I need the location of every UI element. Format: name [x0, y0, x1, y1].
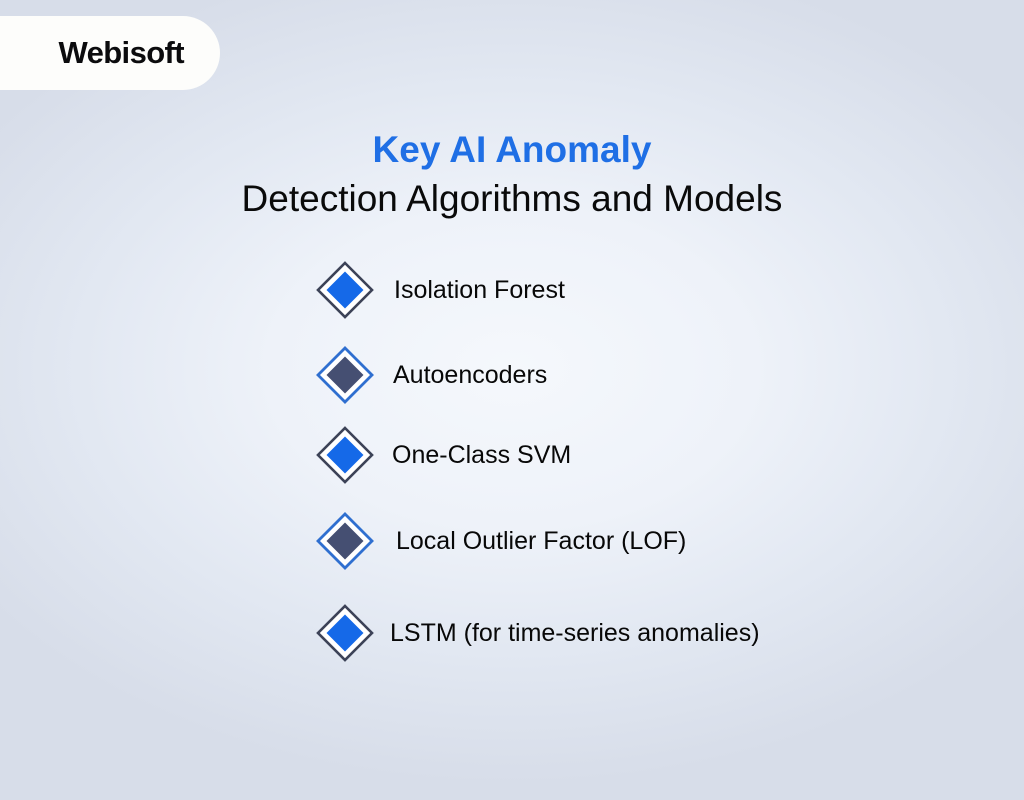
brand-logo-text: Webisoft — [58, 35, 184, 71]
algorithm-list: Isolation Forest Autoencoders One-Class … — [316, 262, 1016, 661]
diamond-blue-icon — [316, 604, 374, 662]
page-title: Key AI Anomaly Detection Algorithms and … — [0, 128, 1024, 222]
list-item: Local Outlier Factor (LOF) — [316, 513, 1016, 569]
diamond-blue-icon — [316, 426, 374, 484]
list-item-label: Autoencoders — [393, 363, 547, 388]
list-item: One-Class SVM — [316, 427, 1016, 483]
list-item: Autoencoders — [316, 347, 1016, 403]
brand-logo-pill: Webisoft — [0, 16, 220, 90]
title-line-primary: Key AI Anomaly — [0, 128, 1024, 172]
slide-canvas: Webisoft Key AI Anomaly Detection Algori… — [0, 0, 1024, 800]
title-line-secondary: Detection Algorithms and Models — [0, 176, 1024, 222]
list-item: LSTM (for time-series anomalies) — [316, 605, 1016, 661]
diamond-blue-icon — [316, 261, 374, 319]
list-item-label: Local Outlier Factor (LOF) — [396, 529, 686, 554]
list-item: Isolation Forest — [316, 262, 1016, 318]
diamond-navy-icon — [316, 346, 374, 404]
list-item-label: Isolation Forest — [394, 278, 565, 303]
list-item-label: LSTM (for time-series anomalies) — [390, 621, 760, 646]
list-item-label: One-Class SVM — [392, 443, 571, 468]
diamond-navy-icon — [316, 512, 374, 570]
